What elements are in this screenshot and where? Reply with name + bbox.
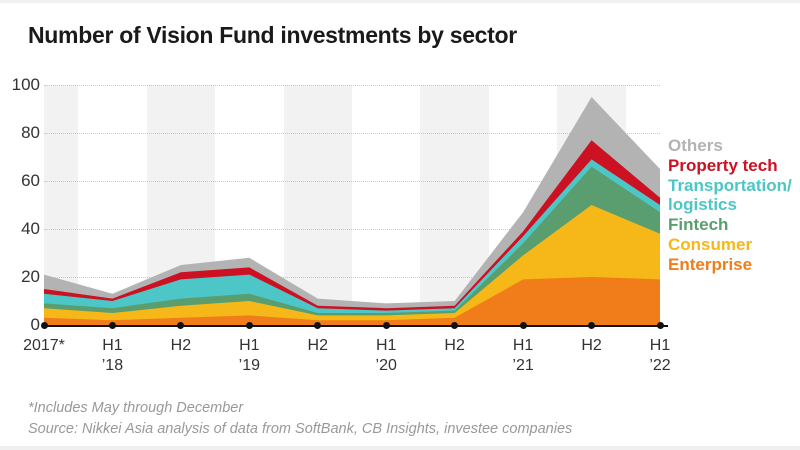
x-axis-tick-label: H2	[146, 336, 216, 356]
x-axis-tick-label: H1’22	[625, 336, 695, 376]
y-axis-tick-label: 20	[0, 268, 40, 285]
chart-canvas	[44, 85, 660, 325]
x-tick-period: H1	[488, 336, 558, 356]
x-axis-tick-label: H1’21	[488, 336, 558, 376]
data-point-marker	[314, 322, 321, 329]
data-point-marker	[657, 322, 664, 329]
x-tick-period: H1	[625, 336, 695, 356]
stacked-area-series	[44, 85, 660, 325]
data-point-marker	[177, 322, 184, 329]
x-tick-year: ’21	[488, 356, 558, 376]
x-tick-period: 2017*	[9, 336, 79, 356]
legend-label-line: Enterprise	[668, 255, 800, 274]
x-tick-year: ’19	[214, 356, 284, 376]
x-tick-year: ’20	[351, 356, 421, 376]
x-tick-period: H1	[214, 336, 284, 356]
legend-label-line: logistics	[668, 195, 800, 214]
chart-notes: *Includes May through December Source: N…	[28, 398, 572, 440]
legend-item-consumer: Consumer	[668, 235, 800, 254]
x-axis-tick-label: 2017*	[9, 336, 79, 356]
legend-label-line: Others	[668, 136, 800, 155]
data-point-marker	[520, 322, 527, 329]
data-point-marker	[109, 322, 116, 329]
data-point-marker	[246, 322, 253, 329]
data-point-marker	[383, 322, 390, 329]
x-tick-period: H2	[146, 336, 216, 356]
x-axis-tick-label: H2	[557, 336, 627, 356]
x-tick-period: H1	[77, 336, 147, 356]
y-axis-tick-label: 80	[0, 124, 40, 141]
x-axis-tick-label: H1’18	[77, 336, 147, 376]
data-point-marker	[41, 322, 48, 329]
legend-item-property-tech: Property tech	[668, 156, 800, 175]
y-axis-tick-label: 60	[0, 172, 40, 189]
y-axis-tick-label: 40	[0, 220, 40, 237]
x-axis-tick-label: H1’19	[214, 336, 284, 376]
legend-label-line: Consumer	[668, 235, 800, 254]
legend-item-transportation-logistics: Transportation/logistics	[668, 176, 800, 214]
x-tick-period: H2	[420, 336, 490, 356]
top-divider	[0, 0, 800, 3]
x-tick-year: ’18	[77, 356, 147, 376]
legend-item-others: Others	[668, 136, 800, 155]
legend-item-fintech: Fintech	[668, 215, 800, 234]
page-title: Number of Vision Fund investments by sec…	[28, 22, 517, 49]
x-axis-tick-label: H2	[420, 336, 490, 356]
chart-legend: OthersProperty techTransportation/logist…	[668, 136, 800, 275]
data-point-marker	[588, 322, 595, 329]
y-axis-tick-label: 100	[0, 76, 40, 93]
legend-item-enterprise: Enterprise	[668, 255, 800, 274]
x-tick-year: ’22	[625, 356, 695, 376]
x-tick-period: H2	[557, 336, 627, 356]
x-axis-tick-label: H1’20	[351, 336, 421, 376]
source-text: Source: Nikkei Asia analysis of data fro…	[28, 419, 572, 440]
legend-label-line: Fintech	[668, 215, 800, 234]
legend-label-line: Transportation/	[668, 176, 800, 195]
y-axis: 020406080100	[0, 70, 40, 360]
footnote-text: *Includes May through December	[28, 398, 572, 419]
x-axis-line	[44, 325, 668, 327]
y-axis-tick-label: 0	[0, 316, 40, 333]
x-tick-period: H1	[351, 336, 421, 356]
x-axis-tick-label: H2	[283, 336, 353, 356]
data-point-marker	[451, 322, 458, 329]
legend-label-line: Property tech	[668, 156, 800, 175]
x-tick-period: H2	[283, 336, 353, 356]
bottom-divider	[0, 446, 800, 450]
